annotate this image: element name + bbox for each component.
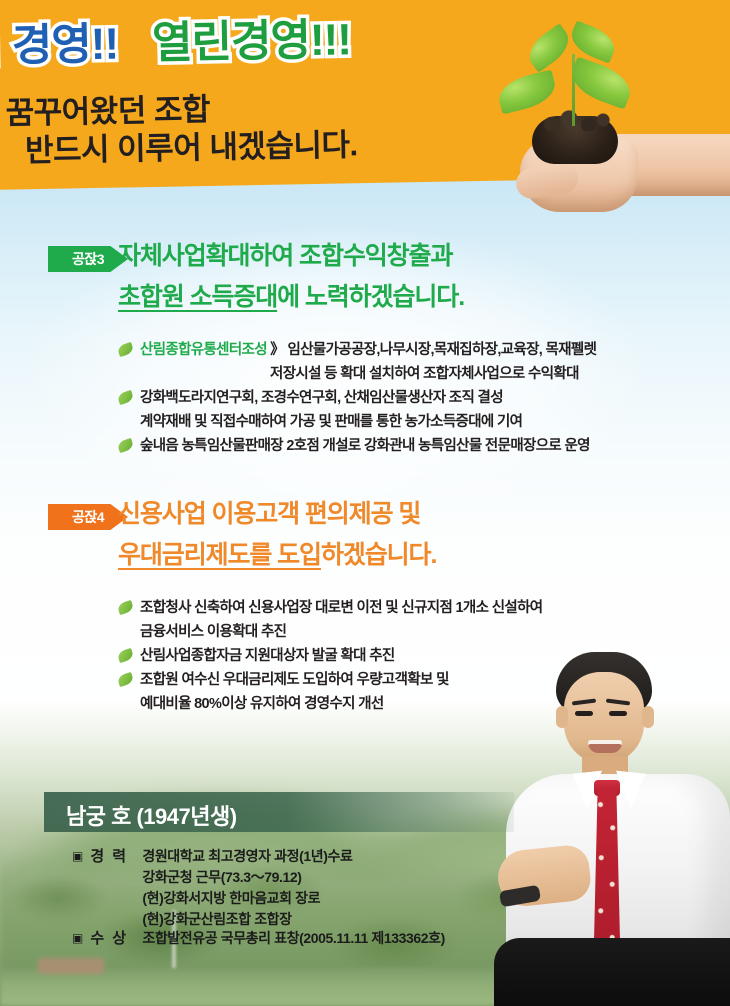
ear-left (556, 706, 568, 728)
profile-value: (현)강화서지방 한마음교회 장로 (142, 888, 352, 909)
soil-clump (532, 116, 618, 164)
profile-label-career: 경 력 (90, 846, 142, 867)
leaf-bullet-icon (117, 438, 135, 453)
house-roof (38, 958, 104, 974)
list-item: 산림종합유통센터조성 》 임산물가공공장,나무시장,목재집하장,교육장, 목재펠… (118, 338, 718, 362)
promise-3-bullets: 산림종합유통센터조성 》 임산물가공공장,나무시장,목재집하장,교육장, 목재펠… (118, 338, 718, 458)
profile-values-award: 조합발전유공 국무총리 표창(2005.11.11 제133362호) (142, 928, 445, 949)
list-item: 숲내음 농특임산물판매장 2호점 개설로 강화관내 농특임산물 전문매장으로 운… (118, 434, 718, 458)
promise-heading-4-underlined: 우대금리제도를 도입 (118, 541, 321, 569)
promise-heading-4: 신용사업 이용고객 편의제공 및 우대금리제도를 도입하겠습니다. (118, 494, 436, 576)
leaf-bullet-icon (117, 672, 135, 687)
bullet-text: 산림사업종합자금 지원대상자 발굴 확대 추진 (140, 648, 395, 664)
bullet-subtext: 금융서비스 이용확대 추진 (118, 620, 718, 644)
mouth (588, 740, 622, 753)
promise-heading-3: 자체사업확대하여 조합수익창출과 초합원 소득증대에 노력하겠습니다. (118, 236, 464, 318)
leaf-bullet-icon (117, 600, 135, 615)
list-item: 조합청사 신축하여 신용사업장 대로변 이전 및 신규지점 1개소 신설하여 (118, 596, 718, 620)
leaf-bullet-icon (117, 390, 135, 405)
profile-value: 조합발전유공 국무총리 표창(2005.11.11 제133362호) (142, 928, 445, 949)
candidate-name: 남궁 호 (1947년생) (66, 799, 237, 831)
eye-right (609, 711, 627, 716)
profile-value: 경원대학교 최고경영자 과정(1년)수료 (142, 846, 352, 867)
bullet-keyword: 산림종합유통센터조성 (140, 342, 267, 358)
promise-heading-3-line1: 자체사업확대하여 조합수익창출과 (118, 236, 464, 277)
square-bullet-icon: ▣ (72, 928, 83, 949)
chevron-marker-icon: 》 (270, 342, 284, 358)
campaign-poster: 적 경영!!열린경영!!! ⁂ 꿈꾸어왔던 조합 반드시 이루어 내겠습니다. … (0, 0, 730, 1006)
hand-holding-seedling-image (466, 16, 730, 216)
promise-heading-3-rest: 에 노력하겠습니다. (277, 283, 464, 311)
leaf-bullet-icon (117, 342, 135, 357)
banner-headline-blue: 적 경영!! (0, 20, 119, 72)
list-item: 강화백도라지연구회, 조경수연구회, 산채임산물생산자 조직 결성 (118, 386, 718, 410)
leaf-icon (495, 69, 559, 114)
bullet-text: 조합원 여수신 우대금리제도 도입하여 우량고객확보 및 (140, 672, 449, 688)
bullet-text: 조합청사 신축하여 신용사업장 대로변 이전 및 신규지점 1개소 신설하여 (140, 600, 542, 616)
promise-heading-4-line1: 신용사업 이용고객 편의제공 및 (118, 494, 436, 535)
profile-value: (현)강화군산림조합 조합장 (142, 909, 352, 930)
eye-left (575, 711, 593, 716)
leaf-bullet-icon (117, 648, 135, 663)
red-polka-dot-tie (594, 788, 620, 954)
bullet-text: 강화백도라지연구회, 조경수연구회, 산채임산물생산자 조직 결성 (140, 390, 503, 406)
promise-heading-3-underlined: 초합원 소득증대 (118, 283, 277, 311)
name-banner: 남궁 호 (1947년생) (44, 792, 514, 832)
profile-label-award: 수 상 (90, 928, 142, 949)
banner-subline-2: 반드시 이루어 내겠습니다. (25, 119, 358, 170)
dark-trousers (494, 938, 730, 1006)
profile-row-award: ▣ 수 상 조합발전유공 국무총리 표창(2005.11.11 제133362호… (72, 928, 445, 949)
bullet-text: 임산물가공공장,나무시장,목재집하장,교육장, 목재펠렛 (288, 342, 597, 358)
bullet-subtext: 계약재배 및 직접수매하여 가공 및 판매를 통한 농가소득증대에 기여 (118, 410, 718, 434)
profile-value: 강화군청 근무(73.3～79.12) (142, 867, 352, 888)
candidate-photo (494, 648, 730, 1006)
banner-headline-green: 열린경영!!! (152, 15, 352, 68)
bullet-subtext: 저장시설 등 확대 설치하여 조합자체사업으로 수익확대 (118, 362, 718, 386)
bullet-text: 숲내음 농특임산물판매장 2호점 개설로 강화관내 농특임산물 전문매장으로 운… (140, 438, 590, 454)
square-bullet-icon: ▣ (72, 846, 83, 867)
promise-heading-3-line2: 초합원 소득증대에 노력하겠습니다. (118, 277, 464, 318)
leaf-icon (522, 23, 576, 73)
promise-heading-4-line2: 우대금리제도를 도입하겠습니다. (118, 535, 436, 576)
banner-headline: 적 경영!!열린경영!!! (0, 3, 351, 74)
profile-row-career: ▣ 경 력 경원대학교 최고경영자 과정(1년)수료 강화군청 근무(73.3～… (72, 846, 352, 930)
leaf-icon (566, 56, 636, 109)
profile-values-career: 경원대학교 최고경영자 과정(1년)수료 강화군청 근무(73.3～79.12)… (142, 846, 352, 930)
ear-right (642, 706, 654, 728)
promise-heading-4-rest: 하겠습니다. (321, 541, 436, 569)
